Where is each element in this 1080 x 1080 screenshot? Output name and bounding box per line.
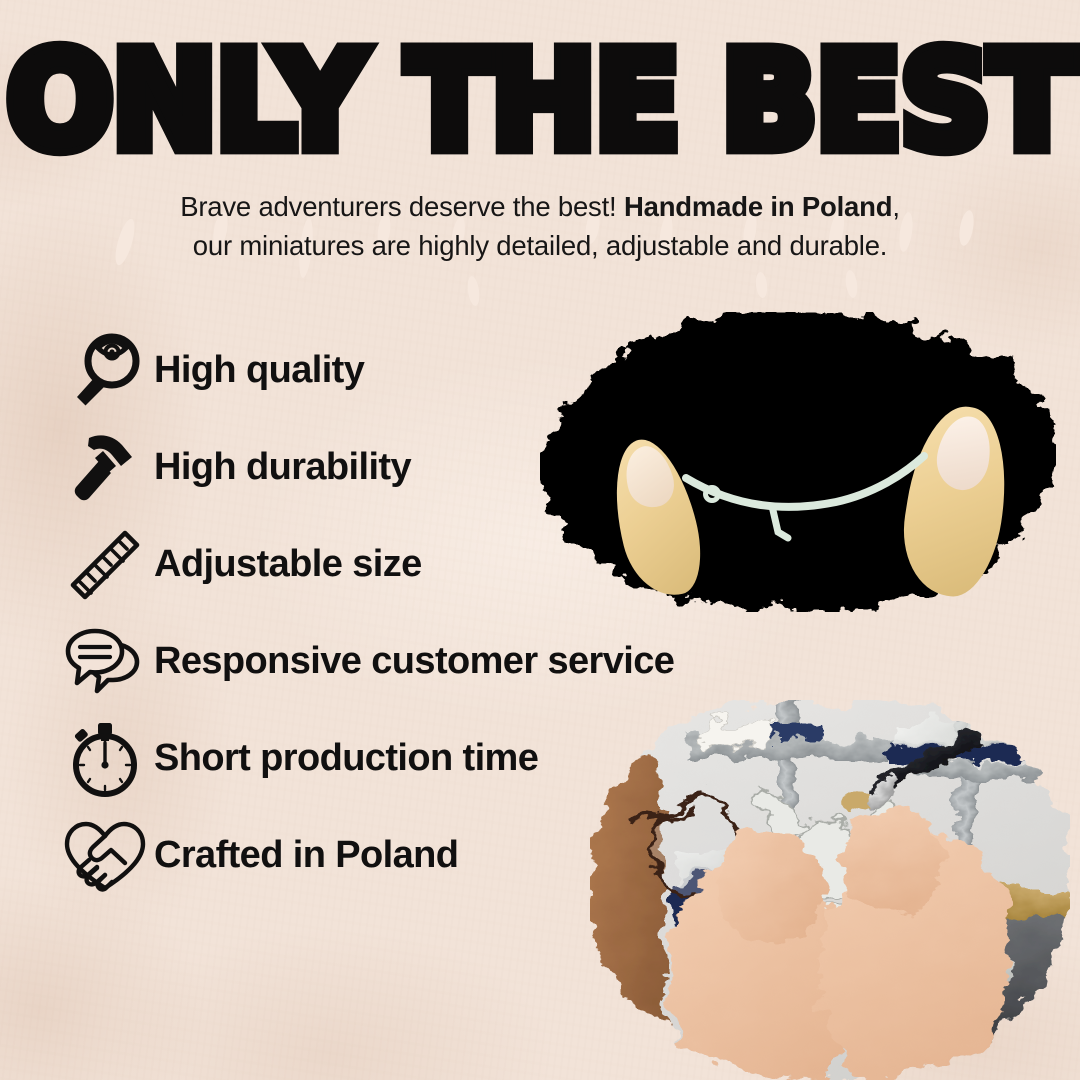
subtitle-emphasis: Handmade in Poland [624, 191, 892, 222]
subtitle-lead: Brave adventurers deserve the best! [180, 191, 616, 222]
subtitle: Brave adventurers deserve the best! Hand… [60, 188, 1020, 265]
page-title: ONLY THE BEST [7, 34, 1074, 167]
handshake-heart-icon [62, 816, 148, 896]
poster-canvas: ONLY THE BEST Brave adventurers deserve … [0, 0, 1080, 1080]
feature-item-responsive-customer-service[interactable]: Responsive customer service [62, 613, 782, 710]
bottom-photo-torn-frame [590, 700, 1070, 1080]
feature-label: High durability [154, 446, 411, 489]
feature-label: Responsive customer service [154, 640, 674, 683]
shelf-label-card [704, 720, 772, 746]
headline-container: ONLY THE BEST [0, 34, 1080, 152]
ruler-icon [62, 525, 148, 605]
feature-label: High quality [154, 349, 364, 392]
feature-label: Short production time [154, 737, 538, 780]
speech-bubbles-icon [62, 622, 148, 702]
magnifier-eye-icon [62, 331, 148, 411]
feature-label: Adjustable size [154, 543, 422, 586]
stopwatch-icon [62, 719, 148, 799]
subtitle-comma: , [892, 191, 899, 222]
elastic-band [676, 450, 934, 560]
wooden-desk-edge [590, 760, 664, 1050]
hammer-icon [62, 428, 148, 508]
feature-label: Crafted in Poland [154, 834, 458, 877]
fingers-stretching-elastic-band-photo [540, 312, 1056, 612]
top-photo-scene [540, 312, 1056, 612]
subtitle-line2: our miniatures are highly detailed, adju… [193, 230, 888, 261]
hands-painting-dragon-miniature-photo [590, 700, 1070, 1080]
